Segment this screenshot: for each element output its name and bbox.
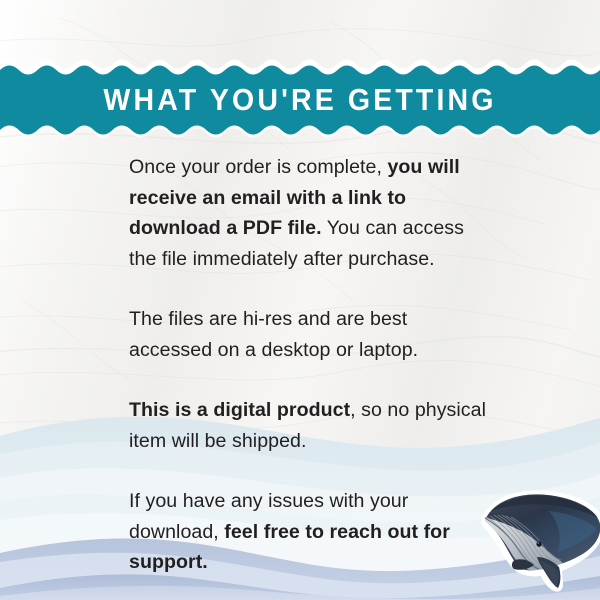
paragraph-1: Once your order is complete, you will re… [129, 152, 489, 274]
body-copy: Once your order is complete, you will re… [129, 152, 489, 578]
paragraph-3: This is a digital product, so no physica… [129, 395, 489, 456]
whale-eye [536, 541, 541, 547]
p1-run-1: Once your order is complete, [129, 156, 387, 178]
p2-run-1: The files are hi-res and are best access… [129, 308, 418, 361]
p3-run-1: This is a digital product [129, 399, 350, 421]
promo-card: WHAT YOU'RE GETTING [0, 0, 600, 600]
whale-eye-highlight [537, 542, 539, 544]
paragraph-2: The files are hi-res and are best access… [129, 304, 489, 365]
page-title: WHAT YOU'RE GETTING [24, 58, 576, 142]
paragraph-4: If you have any issues with your downloa… [129, 486, 489, 578]
blue-whale-illustration [477, 487, 600, 600]
